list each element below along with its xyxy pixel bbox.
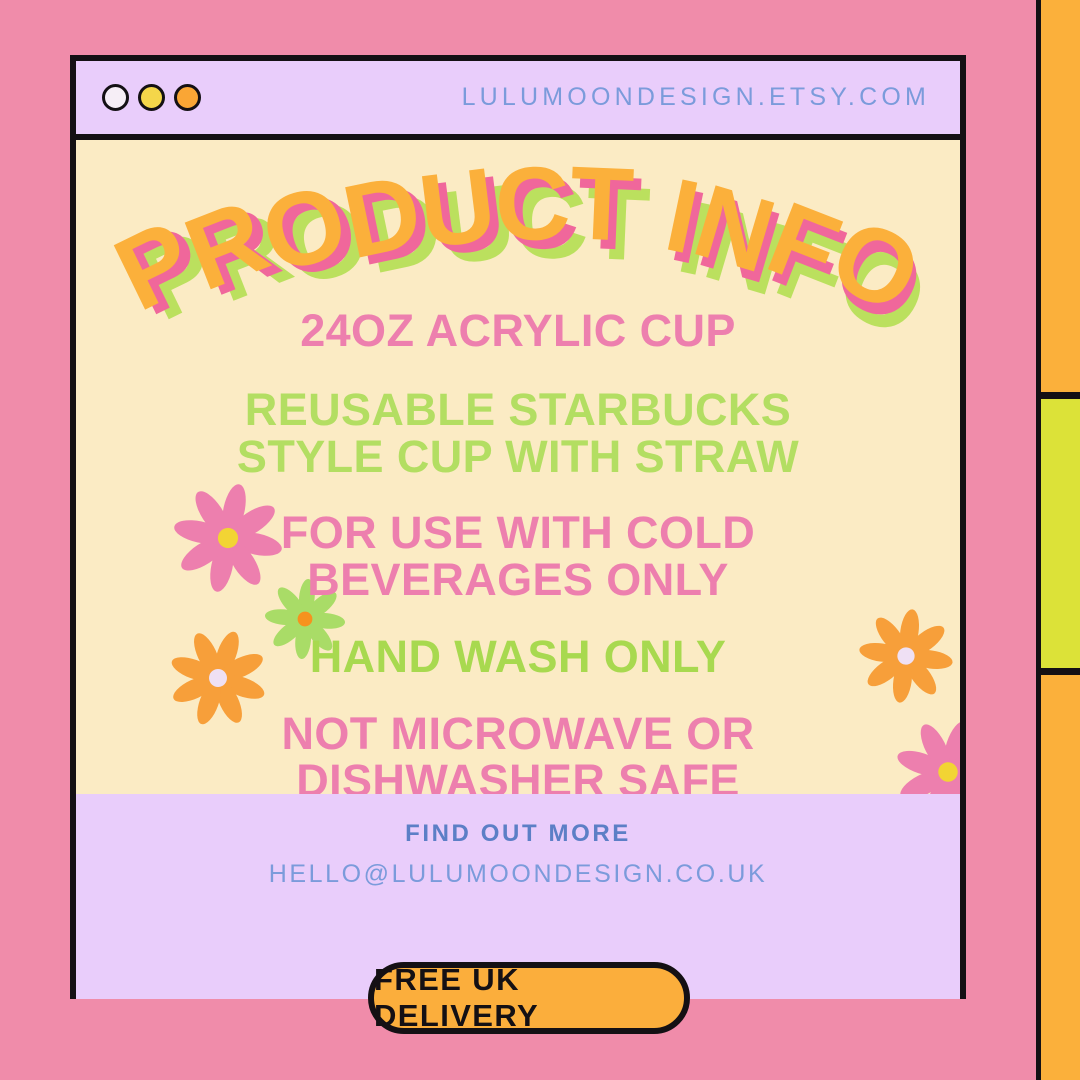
adjacent-slide-edge-strip	[1036, 0, 1080, 1080]
window-titlebar: LULUMOONDESIGN.ETSY.COM	[76, 61, 960, 140]
site-url-label: LULUMOONDESIGN.ETSY.COM	[462, 83, 930, 112]
product-info-line: NOT MICROWAVE OR DISHWASHER SAFE	[281, 711, 754, 794]
window-minimize-dot-icon[interactable]	[138, 84, 165, 111]
title-char: C	[493, 151, 572, 258]
title-char: R	[173, 183, 281, 307]
page-title: PRODUCT INFO	[76, 152, 960, 327]
contact-email-label: HELLO@LULUMOONDESIGN.CO.UK	[269, 860, 768, 889]
product-info-line: 24OZ ACRYLIC CUP	[300, 308, 736, 355]
product-info-line: HAND WASH ONLY	[310, 634, 726, 681]
product-info-line: REUSABLE STARBUCKS STYLE CUP WITH STRAW	[237, 387, 799, 481]
title-char: T	[568, 151, 636, 258]
free-uk-delivery-button[interactable]: FREE UK DELIVERY	[368, 962, 690, 1034]
title-char: N	[684, 169, 786, 290]
title-char: D	[335, 158, 430, 275]
title-char: O	[251, 168, 358, 291]
edge-segment-orange-bottom	[1036, 675, 1080, 1080]
window-traffic-lights	[102, 84, 201, 111]
title-char: U	[414, 152, 501, 264]
window-close-dot-icon[interactable]	[102, 84, 129, 111]
edge-segment-yellow-middle	[1036, 392, 1080, 675]
product-info-list: 24OZ ACRYLIC CUPREUSABLE STARBUCKS STYLE…	[76, 308, 960, 794]
card-content-area: PRODUCT INFO 24OZ ACRYLIC CUPREUSABLE ST…	[76, 140, 960, 794]
edge-segment-orange-top	[1036, 0, 1080, 392]
title-char: I	[658, 163, 708, 271]
product-info-line: FOR USE WITH COLD BEVERAGES ONLY	[281, 510, 755, 604]
title-char: F	[755, 186, 852, 306]
browser-window-card: LULUMOONDESIGN.ETSY.COM PRODUCT INFO 24O…	[70, 55, 966, 999]
window-maximize-dot-icon[interactable]	[174, 84, 201, 111]
find-out-more-label: FIND OUT MORE	[405, 820, 631, 848]
title-space	[628, 155, 675, 262]
